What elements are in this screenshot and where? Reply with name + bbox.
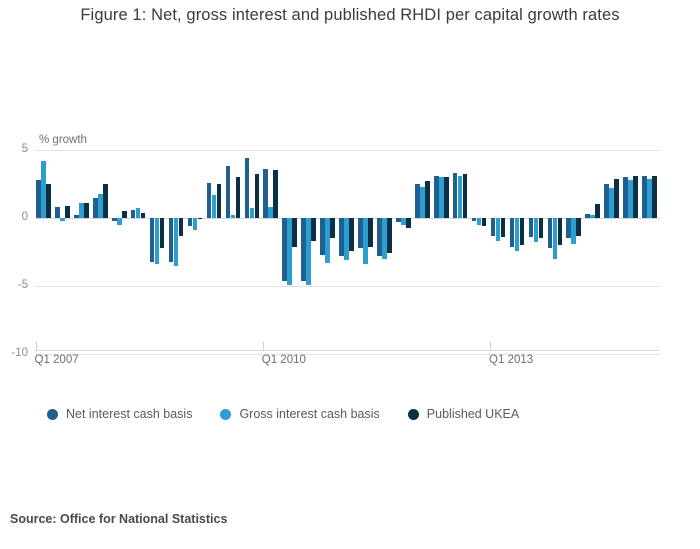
y-tick-label-0: 0 xyxy=(0,212,28,224)
bar-group xyxy=(281,120,300,380)
bar xyxy=(84,203,89,218)
bar xyxy=(647,179,652,218)
bar xyxy=(553,218,558,259)
bar xyxy=(609,188,614,218)
bar-group xyxy=(508,120,527,380)
chart-plot-area: % growth 50-5-10 Q1 2007Q1 2010Q1 2013 xyxy=(0,120,700,380)
bar xyxy=(425,181,430,218)
bar xyxy=(217,184,222,218)
bar xyxy=(401,218,406,225)
bar xyxy=(188,218,193,226)
bar xyxy=(387,218,392,253)
legend-item[interactable]: Published UKEA xyxy=(408,407,519,421)
bar-group xyxy=(243,120,262,380)
bar xyxy=(141,213,146,218)
bar xyxy=(212,195,217,218)
bar xyxy=(406,218,411,228)
bar xyxy=(571,218,576,244)
bar-group xyxy=(565,120,584,380)
bar-group xyxy=(262,120,281,380)
bar-group xyxy=(205,120,224,380)
bar xyxy=(169,218,174,262)
bar xyxy=(463,174,468,218)
bar-group xyxy=(338,120,357,380)
bar xyxy=(150,218,155,262)
bar xyxy=(306,218,311,285)
bar xyxy=(325,218,330,263)
bar xyxy=(330,218,335,238)
bar xyxy=(226,166,231,218)
chart-legend: Net interest cash basisGross interest ca… xyxy=(47,407,519,421)
bar-group xyxy=(224,120,243,380)
bar xyxy=(472,218,477,221)
bar xyxy=(179,218,184,236)
bar xyxy=(41,161,46,218)
bar-group xyxy=(527,120,546,380)
bar xyxy=(207,183,212,218)
bar-group xyxy=(168,120,187,380)
bar-group xyxy=(471,120,490,380)
bar xyxy=(377,218,382,256)
bar xyxy=(510,218,515,247)
bar xyxy=(623,177,628,218)
bar-group xyxy=(395,120,414,380)
legend-label: Gross interest cash basis xyxy=(239,407,379,421)
bar-group xyxy=(452,120,471,380)
bar-series-container xyxy=(35,120,660,380)
bar xyxy=(344,218,349,260)
bar xyxy=(250,208,255,218)
bar xyxy=(231,215,236,218)
circle-marker-icon xyxy=(408,409,419,420)
bar xyxy=(529,218,534,237)
bar-group xyxy=(149,120,168,380)
bar xyxy=(420,187,425,218)
bar-group xyxy=(111,120,130,380)
bar xyxy=(396,218,401,222)
bar xyxy=(520,218,525,245)
bar-group xyxy=(54,120,73,380)
bar xyxy=(453,173,458,218)
bar xyxy=(628,180,633,218)
bar xyxy=(415,184,420,218)
bar xyxy=(363,218,368,264)
bar xyxy=(566,218,571,238)
bar xyxy=(604,184,609,218)
bar-group xyxy=(433,120,452,380)
bar xyxy=(368,218,373,247)
bar xyxy=(117,218,122,225)
bar xyxy=(287,218,292,285)
bar xyxy=(65,206,70,218)
bar xyxy=(642,176,647,218)
circle-marker-icon xyxy=(47,409,58,420)
bar xyxy=(46,184,51,218)
bar-group xyxy=(319,120,338,380)
bar xyxy=(245,158,250,218)
y-tick-label-5: 5 xyxy=(0,144,28,156)
bar xyxy=(79,203,84,218)
bar xyxy=(136,208,141,218)
bar xyxy=(131,210,136,218)
bar xyxy=(496,218,501,241)
bar xyxy=(434,176,439,218)
bar xyxy=(98,194,103,218)
bar xyxy=(339,218,344,256)
bar xyxy=(292,218,297,247)
bar xyxy=(482,218,487,226)
bar-group xyxy=(622,120,641,380)
bar xyxy=(614,179,619,218)
bar xyxy=(93,198,98,218)
bar-group xyxy=(603,120,622,380)
bar-group xyxy=(187,120,206,380)
bar-group xyxy=(376,120,395,380)
bar xyxy=(439,177,444,218)
bar xyxy=(155,218,160,264)
bar xyxy=(282,218,287,281)
bar xyxy=(36,180,41,218)
bar xyxy=(122,211,127,218)
bar xyxy=(590,215,595,218)
bar xyxy=(60,218,65,221)
bar xyxy=(548,218,553,248)
bar xyxy=(198,218,203,219)
legend-label: Net interest cash basis xyxy=(66,407,192,421)
y-tick-label--10: -10 xyxy=(0,348,28,360)
bar xyxy=(534,218,539,242)
bar xyxy=(358,218,363,248)
source-note: Source: Office for National Statistics xyxy=(10,512,227,526)
bar-group xyxy=(357,120,376,380)
bar-group xyxy=(414,120,433,380)
bar xyxy=(311,218,316,241)
bar-group xyxy=(546,120,565,380)
bar-group xyxy=(92,120,111,380)
bar xyxy=(174,218,179,266)
bar xyxy=(320,218,325,255)
bar xyxy=(595,204,600,218)
bar xyxy=(458,176,463,218)
bar xyxy=(160,218,165,248)
bar-group xyxy=(300,120,319,380)
bar xyxy=(477,218,482,225)
bar xyxy=(55,207,60,218)
bar xyxy=(103,184,108,218)
bar xyxy=(501,218,506,237)
bar xyxy=(382,218,387,259)
bar xyxy=(539,218,544,238)
bar xyxy=(576,218,581,236)
bar xyxy=(633,176,638,218)
bar xyxy=(491,218,496,236)
y-tick-label--5: -5 xyxy=(0,280,28,292)
bar xyxy=(193,218,198,230)
bar-group xyxy=(35,120,54,380)
bar xyxy=(515,218,520,251)
bar xyxy=(585,214,590,218)
bar xyxy=(301,218,306,281)
legend-label: Published UKEA xyxy=(427,407,519,421)
bar-group xyxy=(490,120,509,380)
bar-group xyxy=(584,120,603,380)
bar-group xyxy=(73,120,92,380)
bar xyxy=(444,177,449,218)
bar xyxy=(74,215,79,218)
bar xyxy=(263,169,268,218)
bar xyxy=(255,174,260,218)
legend-item[interactable]: Gross interest cash basis xyxy=(220,407,379,421)
bar-group xyxy=(641,120,660,380)
circle-marker-icon xyxy=(220,409,231,420)
page-title: Figure 1: Net, gross interest and publis… xyxy=(0,6,700,25)
bar xyxy=(268,207,273,218)
bar xyxy=(349,218,354,251)
bar xyxy=(558,218,563,245)
bar-group xyxy=(130,120,149,380)
legend-item[interactable]: Net interest cash basis xyxy=(47,407,192,421)
bar xyxy=(273,170,278,218)
bar xyxy=(652,176,657,218)
bar xyxy=(112,218,117,221)
bar xyxy=(236,177,241,218)
